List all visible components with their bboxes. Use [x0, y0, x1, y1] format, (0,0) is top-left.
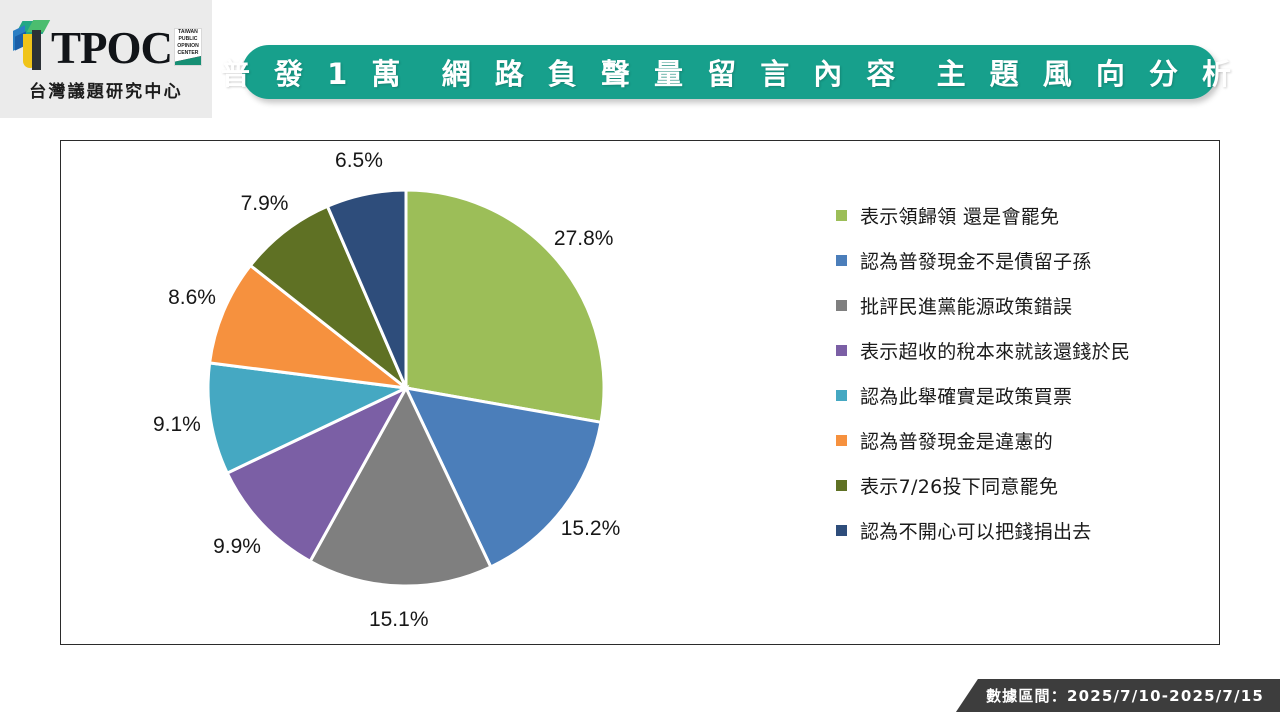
pie-chart-svg [206, 188, 606, 588]
legend-color-swatch-icon [836, 480, 847, 491]
tpoc-logo-icon [10, 18, 50, 70]
legend-color-swatch-icon [836, 300, 847, 311]
chart-legend: 表示領歸領 還是會罷免認為普發現金不是債留子孫批評民進黨能源政策錯誤表示超收的稅… [836, 193, 1206, 553]
logo-row: TPOC TAIWAN PUBLIC OPINION CENTER [10, 16, 202, 70]
pie-chart [206, 188, 606, 588]
pie-slice-value-label: 9.1% [153, 413, 201, 437]
legend-item[interactable]: 批評民進黨能源政策錯誤 [836, 283, 1206, 328]
legend-item[interactable]: 認為不開心可以把錢捐出去 [836, 508, 1206, 553]
page-header: TPOC TAIWAN PUBLIC OPINION CENTER 台灣議題研究… [0, 0, 1280, 118]
pie-slice-value-label: 15.2% [561, 517, 621, 541]
legend-color-swatch-icon [836, 210, 847, 221]
page-title-banner: 普 發 1 萬 網 路 負 聲 量 留 言 內 容 主 題 風 向 分 析 [242, 45, 1217, 99]
legend-item[interactable]: 表示超收的稅本來就該還錢於民 [836, 328, 1206, 373]
data-range-badge: 數據區間：2025/7/10-2025/7/15 [956, 679, 1280, 712]
logo-badge-icon: TAIWAN PUBLIC OPINION CENTER [174, 28, 202, 66]
pie-slice-value-label: 15.1% [369, 608, 429, 632]
pie-slice-value-label: 8.6% [168, 286, 216, 310]
legend-item[interactable]: 表示領歸領 還是會罷免 [836, 193, 1206, 238]
pie-slice[interactable] [406, 190, 604, 422]
legend-color-swatch-icon [836, 525, 847, 536]
badge-line-1: TAIWAN [175, 29, 202, 36]
page-title: 普 發 1 萬 網 路 負 聲 量 留 言 內 容 主 題 風 向 分 析 [221, 51, 1238, 93]
legend-color-swatch-icon [836, 390, 847, 401]
legend-item[interactable]: 認為普發現金不是債留子孫 [836, 238, 1206, 283]
badge-line-3: OPINION [175, 43, 202, 50]
logo-subtitle: 台灣議題研究中心 [29, 77, 183, 102]
legend-item[interactable]: 認為普發現金是違憲的 [836, 418, 1206, 463]
legend-color-swatch-icon [836, 435, 847, 446]
legend-item-label: 認為不開心可以把錢捐出去 [860, 517, 1092, 544]
legend-item-label: 表示領歸領 還是會罷免 [860, 202, 1059, 229]
legend-item[interactable]: 表示7/26投下同意罷免 [836, 463, 1206, 508]
pie-slice-value-label: 6.5% [335, 149, 383, 173]
legend-item[interactable]: 認為此舉確實是政策買票 [836, 373, 1206, 418]
chart-panel: 27.8%15.2%15.1%9.9%9.1%8.6%7.9%6.5% 表示領歸… [60, 140, 1220, 645]
legend-item-label: 表示7/26投下同意罷免 [860, 472, 1058, 499]
legend-color-swatch-icon [836, 255, 847, 266]
pie-slice-value-label: 7.9% [241, 192, 289, 216]
pie-slice-value-label: 9.9% [213, 535, 261, 559]
brand-logo: TPOC TAIWAN PUBLIC OPINION CENTER 台灣議題研究… [0, 0, 212, 118]
legend-color-swatch-icon [836, 345, 847, 356]
legend-item-label: 認為此舉確實是政策買票 [860, 382, 1072, 409]
legend-item-label: 批評民進黨能源政策錯誤 [860, 292, 1072, 319]
badge-line-2: PUBLIC [175, 36, 202, 43]
legend-item-label: 表示超收的稅本來就該還錢於民 [860, 337, 1130, 364]
pie-slice-value-label: 27.8% [554, 227, 614, 251]
legend-item-label: 認為普發現金不是債留子孫 [860, 247, 1092, 274]
legend-item-label: 認為普發現金是違憲的 [860, 427, 1053, 454]
logo-wordmark: TPOC [51, 26, 172, 70]
data-range-label: 數據區間：2025/7/10-2025/7/15 [986, 685, 1264, 706]
